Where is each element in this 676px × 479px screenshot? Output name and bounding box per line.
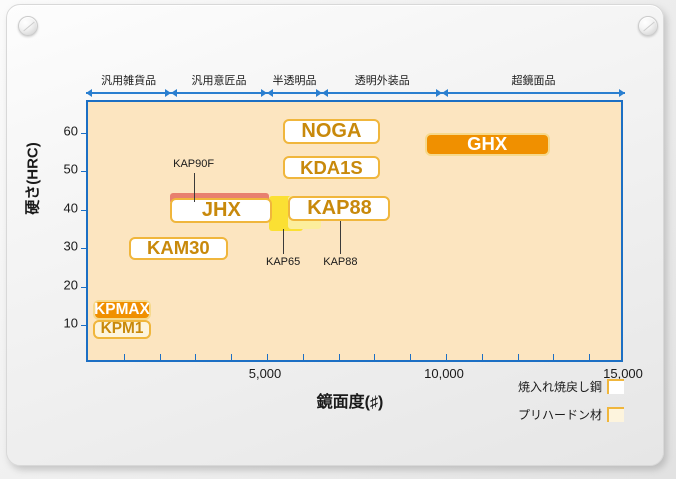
x-axis-tick [160, 354, 161, 361]
annotation-leader-line [340, 221, 341, 254]
y-axis-tick [81, 133, 88, 134]
category-range-arrow [442, 92, 625, 94]
y-axis-tick [81, 210, 88, 211]
x-axis-tick [303, 354, 304, 361]
category-range-arrow [86, 92, 171, 94]
screenshot-panel: 汎用雑貨品汎用意匠品半透明品透明外装品超鏡面品 硬さ(HRC) 鏡面度(♯) 5… [0, 0, 676, 479]
product-label-jhx[interactable]: JHX [170, 198, 272, 223]
y-tick-label: 40 [56, 200, 78, 215]
x-tick-label: 10,000 [424, 366, 464, 381]
x-axis-tick [518, 354, 519, 361]
category-label: 汎用意匠品 [191, 72, 246, 88]
legend-label: 焼入れ焼戻し鋼 [518, 378, 602, 395]
y-tick-label: 50 [56, 162, 78, 177]
product-label-kap88[interactable]: KAP88 [288, 196, 390, 221]
product-label-ghx[interactable]: GHX [425, 133, 550, 156]
x-axis-tick [553, 354, 554, 361]
annotation-label: KAP88 [323, 256, 357, 268]
hardness-vs-polish-chart: 汎用雑貨品汎用意匠品半透明品透明外装品超鏡面品 硬さ(HRC) 鏡面度(♯) 5… [0, 0, 676, 479]
category-label: 超鏡面品 [512, 72, 556, 88]
x-axis-tick [482, 354, 483, 361]
y-tick-label: 60 [56, 123, 78, 138]
legend-swatch [607, 407, 624, 422]
y-axis-tick [81, 287, 88, 288]
product-label-kda1s[interactable]: KDA1S [283, 156, 380, 179]
y-tick-label: 30 [56, 239, 78, 254]
category-range-arrow [171, 92, 267, 94]
plot-area: KPMAXKPM1KAM30JHXKAP88KDA1SNOGAGHX KAP90… [86, 100, 623, 362]
legend-label: プリハードン材 [518, 406, 602, 423]
x-axis-tick [446, 354, 447, 361]
y-axis-tick [81, 325, 88, 326]
annotation-leader-line [194, 173, 195, 202]
category-label: 半透明品 [273, 72, 317, 88]
legend-item: 焼入れ焼戻し鋼 [518, 378, 624, 395]
y-axis-label: 硬さ(HRC) [22, 89, 43, 269]
annotation-leader-line [283, 229, 284, 254]
product-label-kam30[interactable]: KAM30 [129, 237, 227, 260]
category-range-arrow [267, 92, 322, 94]
product-label-kpm1[interactable]: KPM1 [93, 320, 150, 339]
y-tick-label: 20 [56, 277, 78, 292]
category-label: 汎用雑貨品 [101, 72, 156, 88]
legend-item: プリハードン材 [518, 406, 624, 423]
x-axis-tick [267, 354, 268, 361]
annotation-label: KAP65 [266, 256, 300, 268]
x-axis-tick [195, 354, 196, 361]
x-axis-tick [589, 354, 590, 361]
annotation-label: KAP90F [173, 158, 214, 170]
category-range-arrow [322, 92, 442, 94]
x-tick-label: 5,000 [249, 366, 282, 381]
x-axis-tick [374, 354, 375, 361]
x-axis-tick [124, 354, 125, 361]
product-label-noga[interactable]: NOGA [283, 119, 380, 144]
category-label: 透明外装品 [355, 72, 410, 88]
y-axis-tick [81, 171, 88, 172]
x-axis-tick [410, 354, 411, 361]
product-label-kpmax[interactable]: KPMAX [93, 300, 150, 319]
x-axis-tick [339, 354, 340, 361]
legend-swatch [607, 379, 624, 394]
x-axis-label: 鏡面度(♯) [200, 388, 500, 412]
x-axis-tick [231, 354, 232, 361]
y-axis-tick [81, 248, 88, 249]
y-tick-label: 10 [56, 316, 78, 331]
